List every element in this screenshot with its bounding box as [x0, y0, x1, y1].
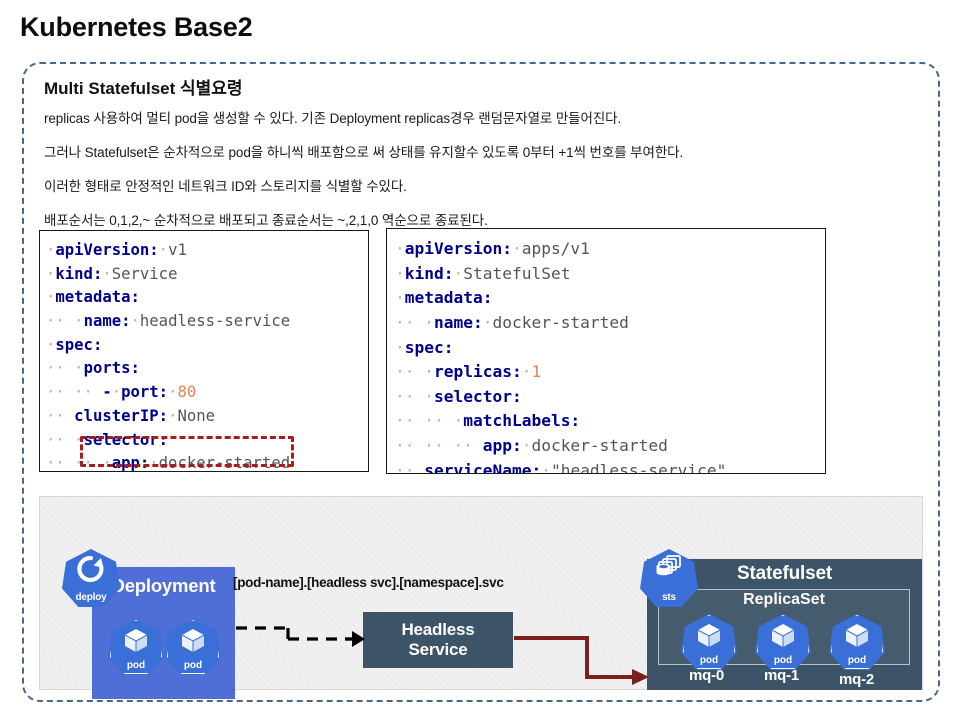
- yaml-line: ·· ·replicas:·1: [395, 360, 819, 385]
- statefulset-pod-2: pod: [755, 614, 811, 670]
- deploy-badge-icon: deploy: [62, 549, 120, 607]
- deployment-pod-1: pod: [108, 619, 164, 675]
- yaml-line: ·apiVersion:·apps/v1: [395, 237, 819, 262]
- pod-label: pod: [127, 660, 145, 675]
- yaml-line: ·· ·· -·port:·80: [46, 381, 362, 405]
- pod-name-mq-1: mq-1: [764, 667, 799, 684]
- page-title: Kubernetes Base2: [20, 12, 252, 43]
- yaml-line: ·kind:·Service: [46, 263, 362, 287]
- yaml-line: ·spec:: [395, 336, 819, 361]
- pod-label: pod: [184, 660, 202, 675]
- yaml-line: ·· ·ports:: [46, 357, 362, 381]
- pod-cube-icon: [755, 622, 811, 648]
- deployment-pod-2: pod: [165, 619, 221, 675]
- statefulset-pod-3: pod: [829, 614, 885, 670]
- yaml-line: ·· ·· ·· app:·docker-started: [395, 434, 819, 459]
- yaml-line: ·spec:: [46, 334, 362, 358]
- architecture-diagram: deploy: [39, 496, 923, 690]
- headless-service-box: Headless Service: [363, 612, 513, 668]
- statefulset-pod-1: pod: [681, 614, 737, 670]
- headless-service-line2: Service: [408, 640, 467, 659]
- yaml-line: ·· ·· ·matchLabels:: [395, 409, 819, 434]
- paragraph-4: 배포순서는 0,1,2,~ 순차적으로 배포되고 종료순서는 ~,2,1,0 역…: [44, 209, 488, 229]
- content-panel: Multi Statefulset 식별요령 replicas 사용하여 멀티 …: [22, 62, 940, 702]
- yaml-line: ·metadata:: [46, 286, 362, 310]
- pod-cube-icon: [829, 622, 885, 648]
- pod-cube-icon: [165, 627, 221, 653]
- dns-format-label: [pod-name].[headless svc].[namespace].sv…: [233, 575, 504, 590]
- paragraph-2: 그러나 Statefulset은 순차적으로 pod을 하니씩 배포함으로 써 …: [44, 141, 683, 161]
- sts-badge-label: sts: [662, 592, 676, 607]
- replicaset-box: ReplicaSet pod: [658, 589, 910, 665]
- pod-name-mq-0: mq-0: [689, 667, 724, 684]
- yaml-line: ·metadata:: [395, 286, 819, 311]
- yaml-line: ·· ·selector:: [395, 385, 819, 410]
- deploy-badge-label: deploy: [75, 592, 106, 607]
- yaml-line: ·· serviceName:·"headless-service": [395, 459, 819, 474]
- headless-service-line1: Headless: [401, 620, 474, 639]
- paragraph-3: 이러한 형태로 안정적인 네트워크 ID와 스토리지를 식별할 수있다.: [44, 175, 407, 195]
- pod-cube-icon: [681, 622, 737, 648]
- deploy-rotate-icon: [62, 554, 120, 584]
- yaml-line: ·· ·selector:: [46, 429, 362, 453]
- yaml-line: ·kind:·StatefulSet: [395, 262, 819, 287]
- yaml-line: ·· clusterIP:·None: [46, 405, 362, 429]
- paragraph-1: replicas 사용하여 멀티 pod을 생성할 수 있다. 기존 Deplo…: [44, 107, 621, 127]
- yaml-line: ·· ·name:·docker-started: [395, 311, 819, 336]
- headless-service-title: Headless Service: [401, 620, 474, 659]
- yaml-line: ·· ·· ·app:·docker-started: [46, 452, 362, 472]
- pod-label: pod: [848, 655, 866, 670]
- section-heading: Multi Statefulset 식별요령: [44, 74, 243, 99]
- replicaset-title: ReplicaSet: [659, 591, 909, 609]
- pod-cube-icon: [108, 627, 164, 653]
- yaml-line: ·· ·name:·headless-service: [46, 310, 362, 334]
- sts-badge-icon: sts: [640, 549, 698, 607]
- pod-name-mq-2: mq-2: [839, 671, 874, 688]
- yaml-line: ·apiVersion:·v1: [46, 239, 362, 263]
- slide-page: Kubernetes Base2 Multi Statefulset 식별요령 …: [0, 0, 960, 720]
- service-yaml-block: ·apiVersion:·v1·kind:·Service·metadata:·…: [39, 230, 369, 472]
- statefulset-yaml-block: ·apiVersion:·apps/v1·kind:·StatefulSet·m…: [386, 228, 826, 474]
